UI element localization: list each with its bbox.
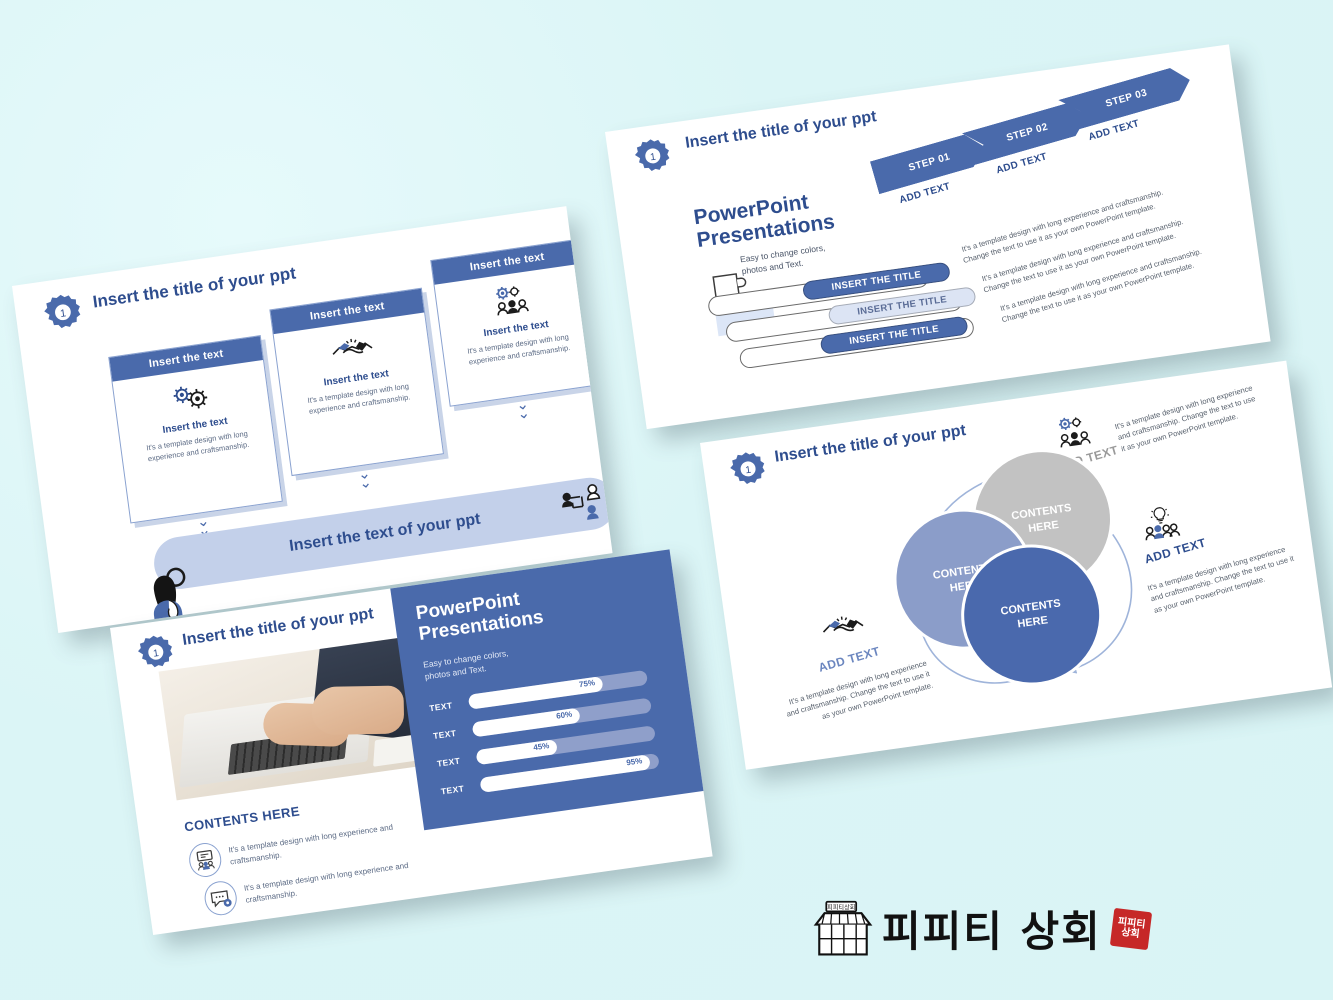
slides-canvas: 1 Insert the title of your ppt Insert th… xyxy=(0,0,1333,1000)
title-bar-1-label: INSERT THE TITLE xyxy=(831,269,922,292)
progress-label-2: TEXT xyxy=(432,725,473,740)
page-title: Insert the title of your ppt xyxy=(684,108,878,153)
storefront-sign-text: 피피티상회 xyxy=(827,903,855,911)
step-arrow-1-label: STEP 01 xyxy=(907,151,951,173)
storefront-icon: 피피티상회 xyxy=(812,900,874,958)
title-bar-2-label: INSERT THE TITLE xyxy=(857,294,948,317)
summary-banner-text: Insert the text of your ppt xyxy=(288,511,481,556)
powerpoint-heading: PowerPoint Presentations xyxy=(692,187,836,252)
card-1[interactable]: Insert the text xyxy=(108,335,283,523)
page-title: Insert the title of your ppt xyxy=(181,605,375,650)
gear-badge-icon: 1 xyxy=(40,290,87,338)
stats-panel: PowerPoint Presentations Easy to change … xyxy=(389,549,707,830)
callout-3-description: It's a template design with long experie… xyxy=(781,658,935,732)
step-arrow-2-label: STEP 02 xyxy=(1005,121,1049,143)
gear-people-icon xyxy=(1052,412,1100,452)
chat-gear-icon xyxy=(202,879,239,917)
gear-badge-icon: 1 xyxy=(726,448,771,493)
chevron-down-icon: ⌄⌄ xyxy=(516,400,531,420)
brand-logo-text: 피피티 상회 xyxy=(882,898,1102,959)
bulb-people-icon xyxy=(1137,501,1186,547)
slide-steps-arrows[interactable]: 1 Insert the title of your ppt PowerPoin… xyxy=(605,44,1271,429)
contents-here-title: CONTENTS HERE xyxy=(183,803,300,834)
card-2[interactable]: Insert the text Insert the text It's a t… xyxy=(269,288,444,476)
brand-logo: 피피티상회 피피티 상회 피피티 상회 xyxy=(812,898,1150,959)
network-people-icon xyxy=(555,480,608,528)
gear-badge-icon: 1 xyxy=(630,135,675,180)
chevron-down-icon: ⌄⌄ xyxy=(357,469,372,489)
callout-1-description: It's a template design with long experie… xyxy=(1113,381,1265,455)
step-arrow-1[interactable]: STEP 01 xyxy=(870,130,989,194)
step-arrow-3-label: STEP 03 xyxy=(1104,87,1148,109)
title-bar-3-label: INSERT THE TITLE xyxy=(849,324,940,347)
card-3[interactable]: Insert the text xyxy=(430,238,600,406)
page-title: Insert the title of your ppt xyxy=(92,263,298,312)
progress-label-1: TEXT xyxy=(429,697,470,712)
callout-3-label: ADD TEXT xyxy=(817,644,882,675)
progress-label-3: TEXT xyxy=(436,753,477,768)
panel-heading: PowerPoint Presentations xyxy=(415,586,545,646)
slide-venn-diagram[interactable]: 1 Insert the title of your ppt xyxy=(700,361,1332,770)
brand-stamp-text: 피피티 상회 xyxy=(1116,916,1146,940)
brand-stamp: 피피티 상회 xyxy=(1110,907,1152,949)
progress-label-4: TEXT xyxy=(440,781,481,796)
laptop-photo xyxy=(159,635,441,801)
panel-subheading: Easy to change colors, photos and Text. xyxy=(422,647,511,683)
presentation-people-icon xyxy=(187,841,224,879)
powerpoint-subheading: Easy to change colors, photos and Text. xyxy=(739,243,827,279)
handshake-icon xyxy=(817,608,869,646)
